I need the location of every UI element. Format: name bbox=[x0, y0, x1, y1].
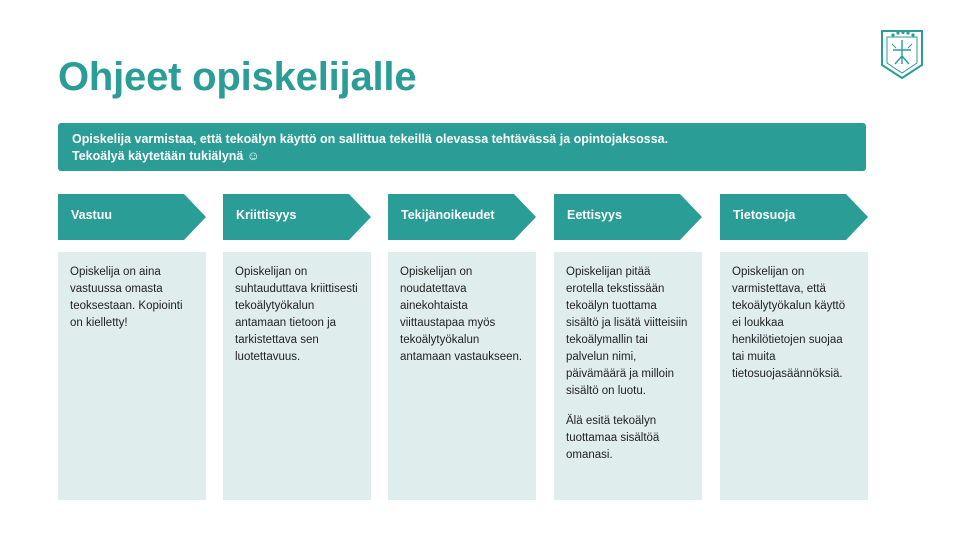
content-box-eettisyys: Opiskelijan pitää erotella tekstissään t… bbox=[554, 252, 702, 500]
content-box-vastuu: Opiskelija on aina vastuussa omasta teok… bbox=[58, 252, 206, 500]
content-box-kriittisyys: Opiskelijan on suhtauduttava kriittisest… bbox=[223, 252, 371, 500]
content-paragraph: Opiskelijan on varmistettava, että tekoä… bbox=[732, 264, 856, 383]
content-box-tietosuoja: Opiskelijan on varmistettava, että tekoä… bbox=[720, 252, 868, 500]
notice-banner-line1: Opiskelija varmistaa, että tekoälyn käyt… bbox=[72, 131, 852, 148]
chevron-vastuu: Vastuu bbox=[58, 194, 206, 240]
page-title: Ohjeet opiskelijalle bbox=[58, 55, 416, 100]
content-paragraph: Opiskelijan pitää erotella tekstissään t… bbox=[566, 264, 690, 400]
content-paragraph: Opiskelijan on noudatettava ainekohtaist… bbox=[400, 264, 524, 366]
notice-banner-line2: Tekoälyä käytetään tukiälynä ☺ bbox=[72, 148, 852, 165]
content-row: Opiskelija on aina vastuussa omasta teok… bbox=[58, 252, 868, 500]
crest-logo bbox=[879, 26, 925, 80]
chevron-tietosuoja: Tietosuoja bbox=[720, 194, 868, 240]
chevron-row: Vastuu Kriittisyys Tekijänoikeudet Eetti… bbox=[58, 194, 868, 240]
chevron-kriittisyys: Kriittisyys bbox=[223, 194, 371, 240]
notice-banner: Opiskelija varmistaa, että tekoälyn käyt… bbox=[58, 123, 866, 171]
chevron-tekijanoikeudet: Tekijänoikeudet bbox=[388, 194, 536, 240]
chevron-eettisyys: Eettisyys bbox=[554, 194, 702, 240]
content-box-tekijanoikeudet: Opiskelijan on noudatettava ainekohtaist… bbox=[388, 252, 536, 500]
slide-canvas: Ohjeet opiskelijalle Opiskelija varmista… bbox=[0, 0, 954, 536]
content-paragraph: Opiskelijan on suhtauduttava kriittisest… bbox=[235, 264, 359, 366]
content-paragraph: Opiskelija on aina vastuussa omasta teok… bbox=[70, 264, 194, 332]
content-paragraph: Älä esitä tekoälyn tuottamaa sisältöä om… bbox=[566, 413, 690, 464]
